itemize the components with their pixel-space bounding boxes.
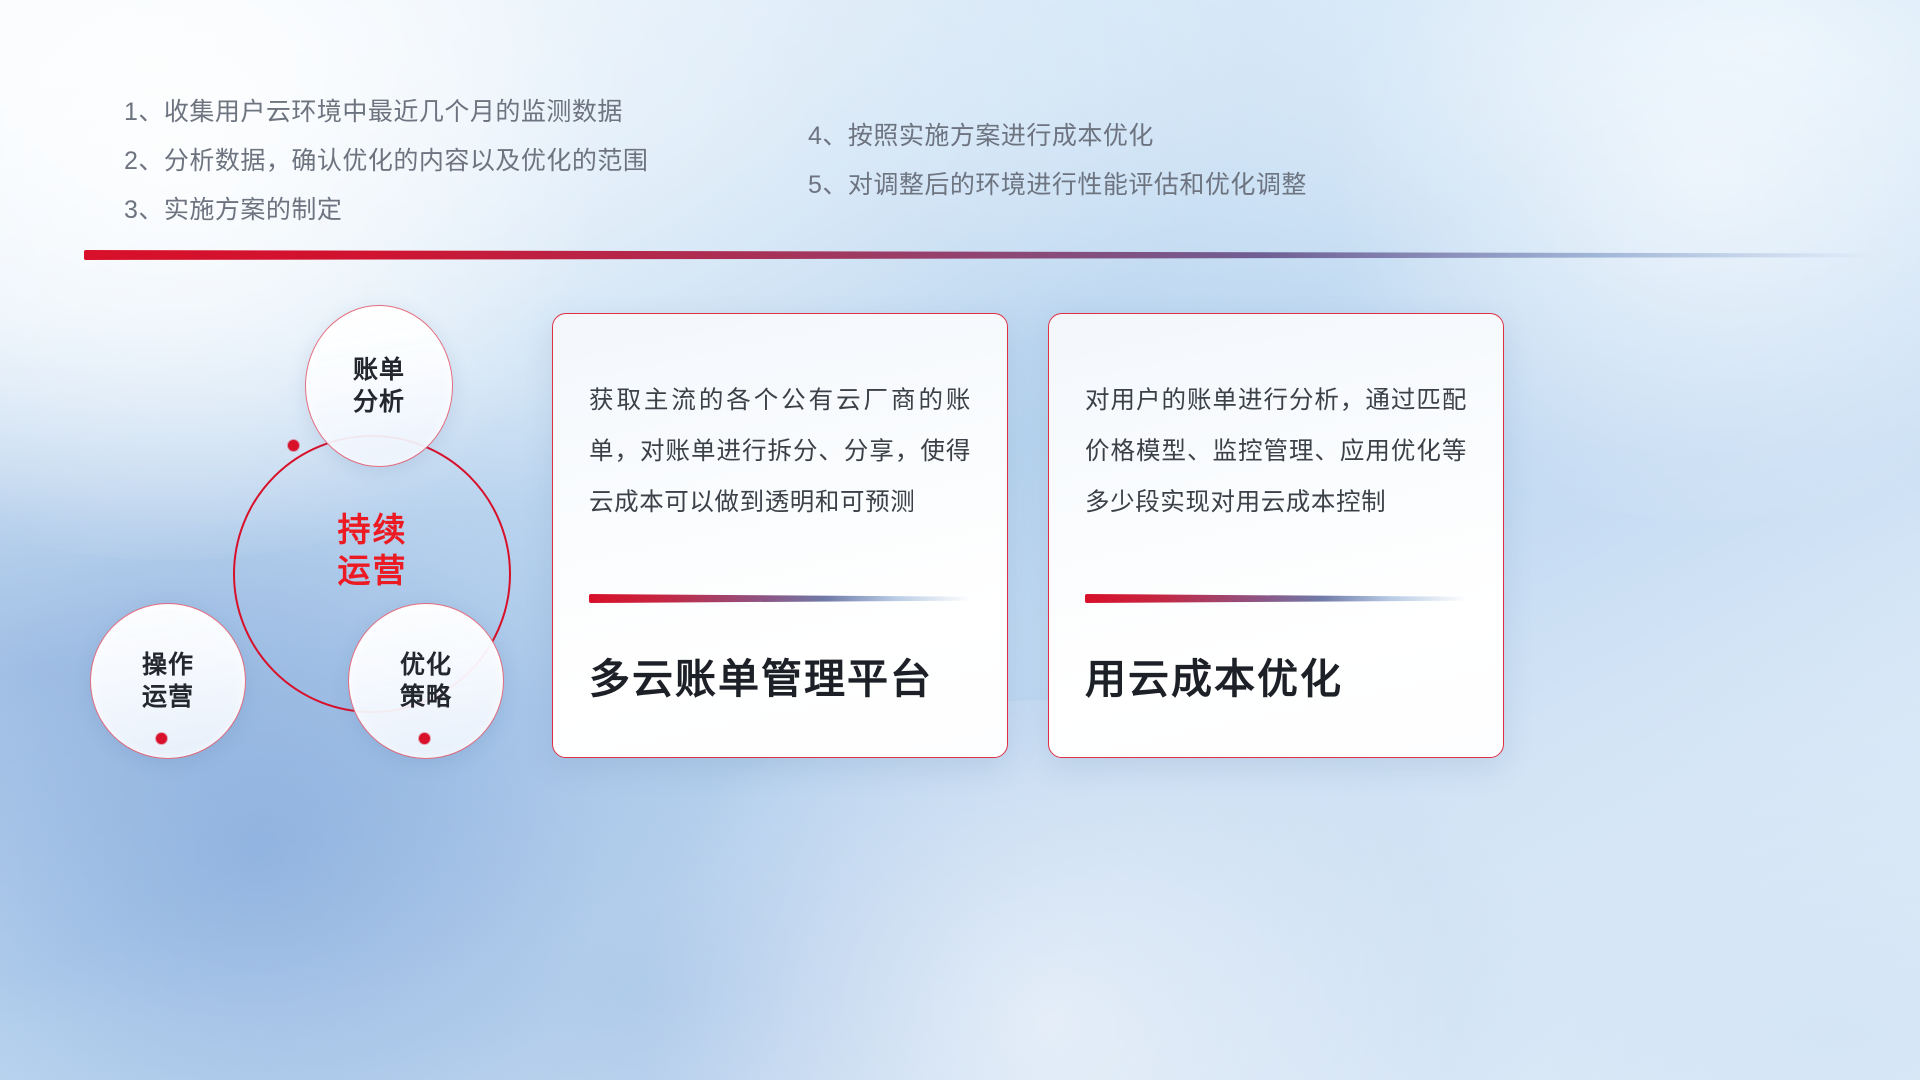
center-label-line2: 运营 <box>338 550 408 591</box>
section-divider <box>84 250 1874 260</box>
card-title: 用云成本优化 <box>1085 645 1467 705</box>
node-dot-right-icon <box>419 733 430 744</box>
venn-lobe-bill-analysis[interactable]: 账单 分析 <box>305 305 453 467</box>
card-accent-rule <box>589 594 971 603</box>
lobe-label-line2: 策略 <box>400 681 452 713</box>
lobe-label-line1: 操作 <box>142 649 194 681</box>
card-accent-rule <box>1085 594 1467 603</box>
continuous-operation-diagram: 持续 运营 账单 分析 操作 运营 优化 策略 <box>80 285 550 765</box>
steps-list-left: 1、收集用户云环境中最近几个月的监测数据 2、分析数据，确认优化的内容以及优化的… <box>124 100 648 247</box>
list-item: 3、实施方案的制定 <box>124 198 648 223</box>
card-body-text: 对用户的账单进行分析，通过匹配价格模型、监控管理、应用优化等多少段实现对用云成本… <box>1085 376 1467 529</box>
node-dot-top-icon <box>288 440 299 451</box>
card-cloud-cost-optimization[interactable]: 对用户的账单进行分析，通过匹配价格模型、监控管理、应用优化等多少段实现对用云成本… <box>1048 313 1504 758</box>
list-item: 4、按照实施方案进行成本优化 <box>808 124 1307 149</box>
card-multi-cloud-bill-platform[interactable]: 获取主流的各个公有云厂商的账单，对账单进行拆分、分享，使得云成本可以做到透明和可… <box>552 313 1008 758</box>
list-item: 1、收集用户云环境中最近几个月的监测数据 <box>124 100 648 125</box>
venn-lobe-operations[interactable]: 操作 运营 <box>90 603 246 759</box>
slide-canvas: 1、收集用户云环境中最近几个月的监测数据 2、分析数据，确认优化的内容以及优化的… <box>0 0 1920 1080</box>
list-item: 5、对调整后的环境进行性能评估和优化调整 <box>808 173 1307 198</box>
diagram-center-label: 持续 运营 <box>265 490 480 610</box>
node-dot-left-icon <box>156 733 167 744</box>
lobe-label-line1: 账单 <box>353 354 405 386</box>
lobe-label-line2: 运营 <box>142 681 194 713</box>
card-title: 多云账单管理平台 <box>589 645 971 705</box>
steps-list-right: 4、按照实施方案进行成本优化 5、对调整后的环境进行性能评估和优化调整 <box>808 124 1307 222</box>
list-item: 2、分析数据，确认优化的内容以及优化的范围 <box>124 149 648 174</box>
lobe-label-line2: 分析 <box>353 386 405 418</box>
center-label-line1: 持续 <box>338 509 408 550</box>
card-body-text: 获取主流的各个公有云厂商的账单，对账单进行拆分、分享，使得云成本可以做到透明和可… <box>589 376 971 529</box>
lobe-label-line1: 优化 <box>400 649 452 681</box>
